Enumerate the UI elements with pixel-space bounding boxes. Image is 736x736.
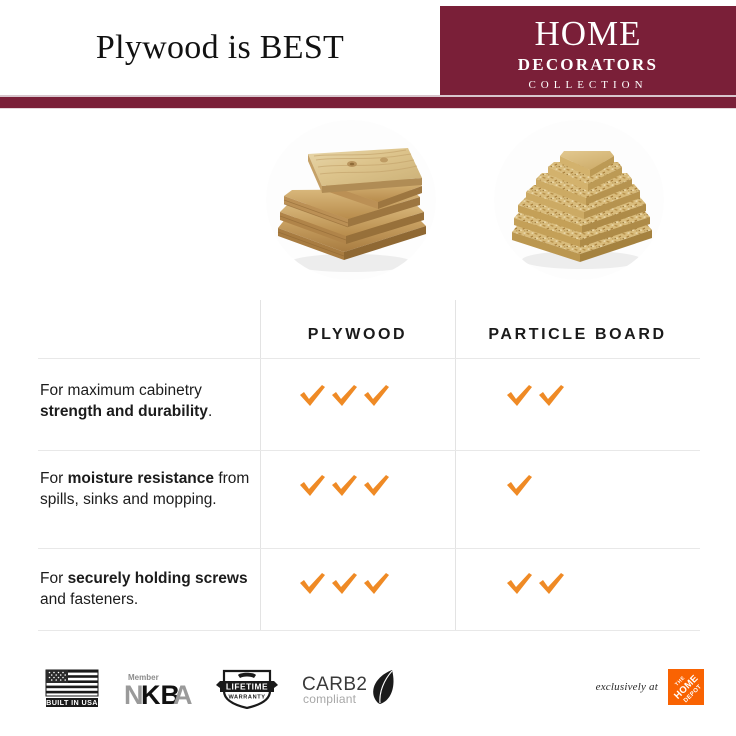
row-label-moisture: For moisture resistance from spills, sin…	[40, 468, 250, 510]
column-header-particle-board: PARTICLE BOARD	[455, 322, 700, 348]
table-rule-top	[38, 358, 700, 359]
row-label-text-normal: For	[40, 470, 68, 487]
page-title: Plywood is BEST	[0, 0, 440, 96]
exclusively-at-text: exclusively at	[596, 681, 658, 693]
retailer-group: exclusively at THE HOME DEPOT	[596, 669, 704, 705]
checks-plywood-row1	[260, 375, 455, 415]
footer: BUILT IN USA Member N KB A	[0, 655, 736, 736]
check-icon	[360, 568, 394, 598]
check-icon	[328, 470, 362, 500]
built-in-usa-caption: BUILT IN USA	[46, 698, 98, 707]
product-images	[0, 118, 736, 288]
home-depot-logo: THE HOME DEPOT	[668, 669, 704, 705]
check-icon	[360, 380, 394, 410]
checks-plywood-row2	[260, 465, 455, 505]
row-label-text-tail: and fasteners.	[40, 591, 138, 608]
check-icon	[296, 380, 330, 410]
built-in-usa-badge: BUILT IN USA	[44, 668, 100, 713]
check-icon	[503, 470, 537, 500]
warranty-text: WARRANTY	[228, 695, 265, 701]
row-label-text-normal: For	[40, 570, 68, 587]
infographic-page: Plywood is BEST HOME DECORATORS COLLECTI…	[0, 0, 736, 736]
check-icon	[535, 568, 569, 598]
nkba-member-badge: Member N KB A	[122, 668, 194, 713]
row-label-text-bold: strength and durability	[40, 403, 208, 420]
brand-logo: HOME DECORATORS COLLECTION	[440, 6, 736, 102]
table-rule-2	[38, 548, 700, 549]
table-rule-1	[38, 450, 700, 451]
nkba-letter-a: A	[173, 680, 193, 708]
brand-logo-line1: HOME	[534, 16, 641, 51]
checks-particle-row1	[455, 375, 700, 415]
row-label-text-tail: .	[208, 403, 212, 420]
checks-particle-row3	[455, 563, 700, 603]
check-icon	[328, 568, 362, 598]
carb2-compliant-badge: CARB2 compliant	[300, 667, 398, 714]
lifetime-warranty-badge: LIFETIME WARRANTY	[216, 667, 278, 714]
row-label-screws: For securely holding screws and fastener…	[40, 568, 250, 610]
lifetime-text: LIFETIME	[226, 682, 268, 692]
compliant-text: compliant	[303, 692, 357, 706]
table-rule-bottom	[38, 630, 700, 631]
check-icon	[360, 470, 394, 500]
particle-board-stack-photo	[494, 120, 664, 280]
check-icon	[296, 568, 330, 598]
header: Plywood is BEST HOME DECORATORS COLLECTI…	[0, 0, 736, 108]
certification-badges: BUILT IN USA Member N KB A	[44, 667, 398, 714]
us-flag-icon	[46, 670, 98, 696]
row-label-text-bold: moisture resistance	[68, 470, 214, 487]
check-icon	[503, 380, 537, 410]
row-label-text-normal: For maximum cabinetry	[40, 382, 202, 399]
check-icon	[328, 380, 362, 410]
brand-logo-line3: COLLECTION	[528, 78, 647, 92]
check-icon	[296, 470, 330, 500]
leaf-icon	[373, 670, 393, 704]
row-label-text-bold: securely holding screws	[68, 570, 248, 587]
table-row: For securely holding screws and fastener…	[38, 563, 700, 638]
checks-plywood-row3	[260, 563, 455, 603]
check-icon	[535, 380, 569, 410]
table-row: For moisture resistance from spills, sin…	[38, 465, 700, 555]
row-label-strength: For maximum cabinetry strength and durab…	[40, 380, 250, 422]
plywood-stack-photo	[266, 120, 436, 280]
table-row: For maximum cabinetry strength and durab…	[38, 375, 700, 450]
header-accent-bar	[0, 95, 736, 109]
checks-particle-row2	[455, 465, 700, 505]
brand-logo-line2: DECORATORS	[518, 54, 658, 75]
column-header-plywood: PLYWOOD	[260, 322, 455, 348]
check-icon	[503, 568, 537, 598]
